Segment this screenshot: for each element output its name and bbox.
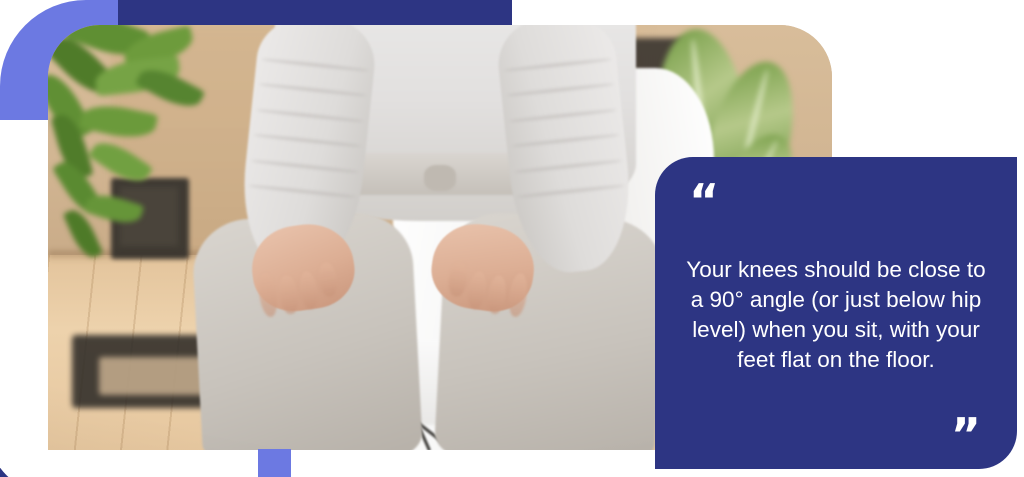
decor-navy-corner-bottom-left: [0, 381, 260, 477]
quote-card: “ Your knees should be close to a 90° an…: [655, 157, 1017, 469]
decor-navy-bar-top: [118, 0, 512, 27]
sweatpants-drawstring: [424, 165, 455, 191]
quote-close-icon: ”: [951, 419, 979, 451]
quote-text: Your knees should be close to a 90° angl…: [679, 211, 993, 419]
graphic-canvas: “ Your knees should be close to a 90° an…: [0, 0, 1024, 477]
decor-purple-tab-bottom: [258, 449, 291, 477]
